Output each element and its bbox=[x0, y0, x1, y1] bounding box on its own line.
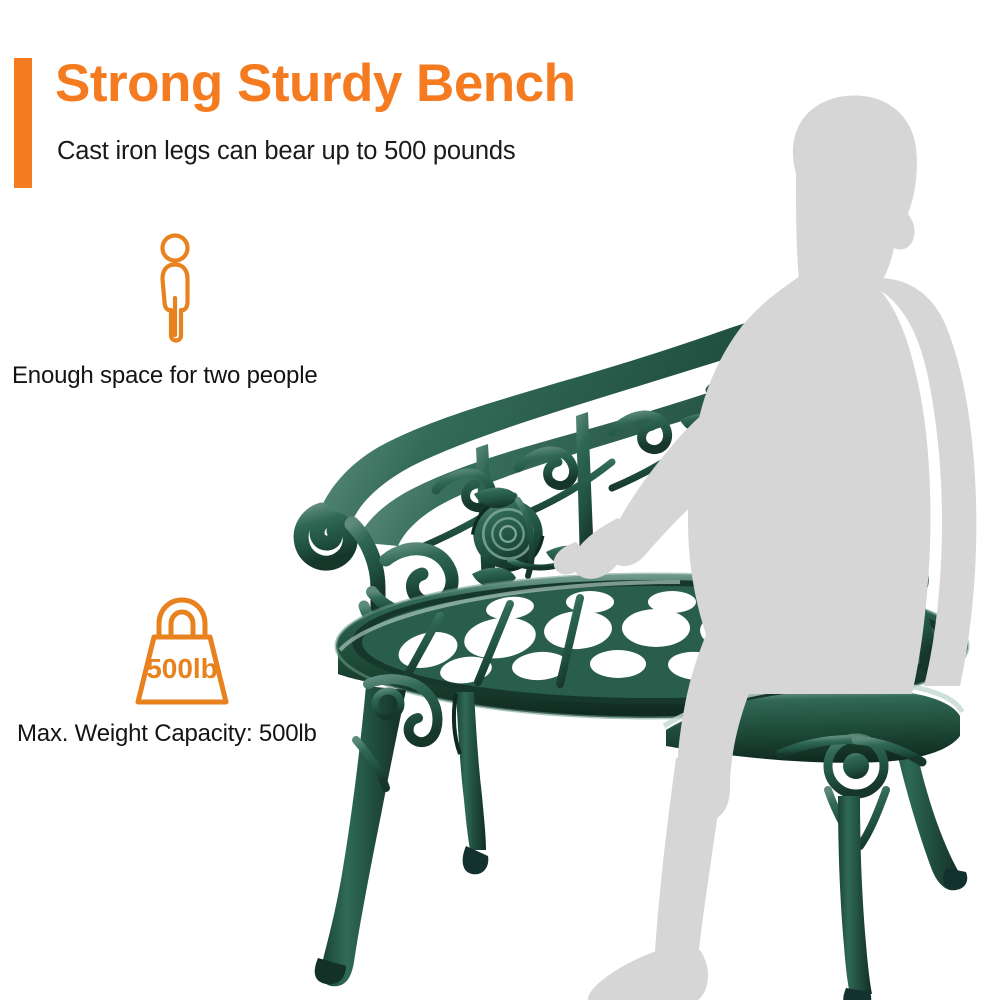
person-silhouette bbox=[554, 96, 977, 1000]
weight-icon-label: 500lb bbox=[146, 653, 218, 684]
weight-bag-icon: 500lb bbox=[126, 592, 238, 708]
feature-weight-caption: Max. Weight Capacity: 500lb bbox=[17, 720, 317, 748]
product-infographic: Strong Sturdy Bench Cast iron legs can b… bbox=[0, 0, 1000, 1000]
bench-leg-front-left bbox=[315, 679, 438, 986]
bench-leg-mid bbox=[454, 692, 488, 874]
feature-space-caption: Enough space for two people bbox=[12, 362, 318, 390]
accent-bar bbox=[14, 58, 32, 188]
person-standing-icon bbox=[140, 232, 210, 344]
product-photo bbox=[260, 90, 1000, 1000]
